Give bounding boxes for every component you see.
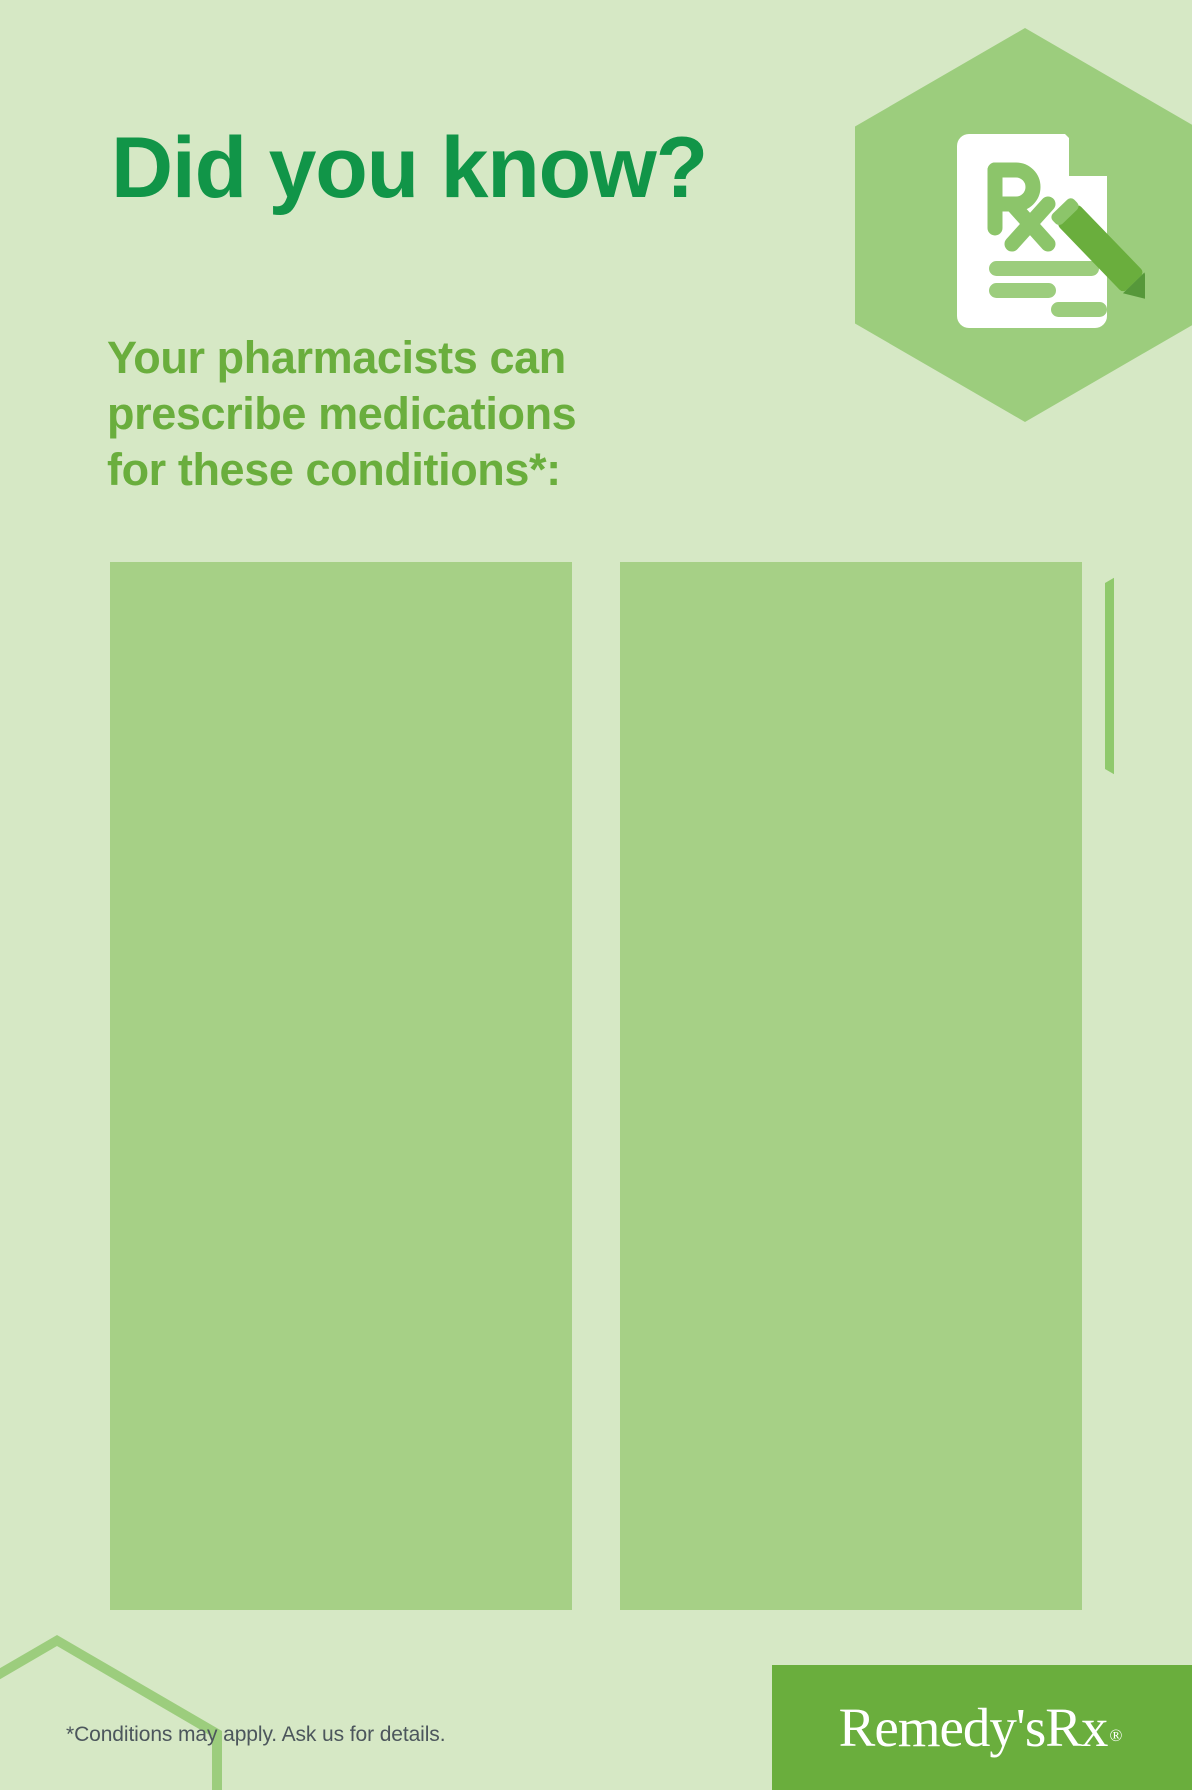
subtitle-line-1: Your pharmacists can [107, 330, 576, 386]
brand-logo-wordmark: Remedy'sRx® [772, 1665, 1192, 1790]
conditions-column-right [620, 562, 1082, 1610]
subtitle-line-3: for these conditions*: [107, 442, 576, 498]
registered-trademark-icon: ® [1109, 1726, 1121, 1746]
page-title: Did you know? [111, 125, 707, 211]
subtitle-line-2: prescribe medications [107, 386, 576, 442]
brand-logo-bar: Remedy'sRx® [772, 1665, 1192, 1790]
conditions-column-left [110, 562, 572, 1610]
brand-logo-text: Remedy'sRx [839, 1696, 1108, 1759]
footnote-disclaimer: *Conditions may apply. Ask us for detail… [66, 1723, 445, 1747]
rx-prescription-document-icon [955, 122, 1145, 337]
poster-canvas: Did you know? Your pharmacists can presc… [0, 0, 1192, 1790]
page-subtitle: Your pharmacists can prescribe medicatio… [107, 330, 576, 497]
